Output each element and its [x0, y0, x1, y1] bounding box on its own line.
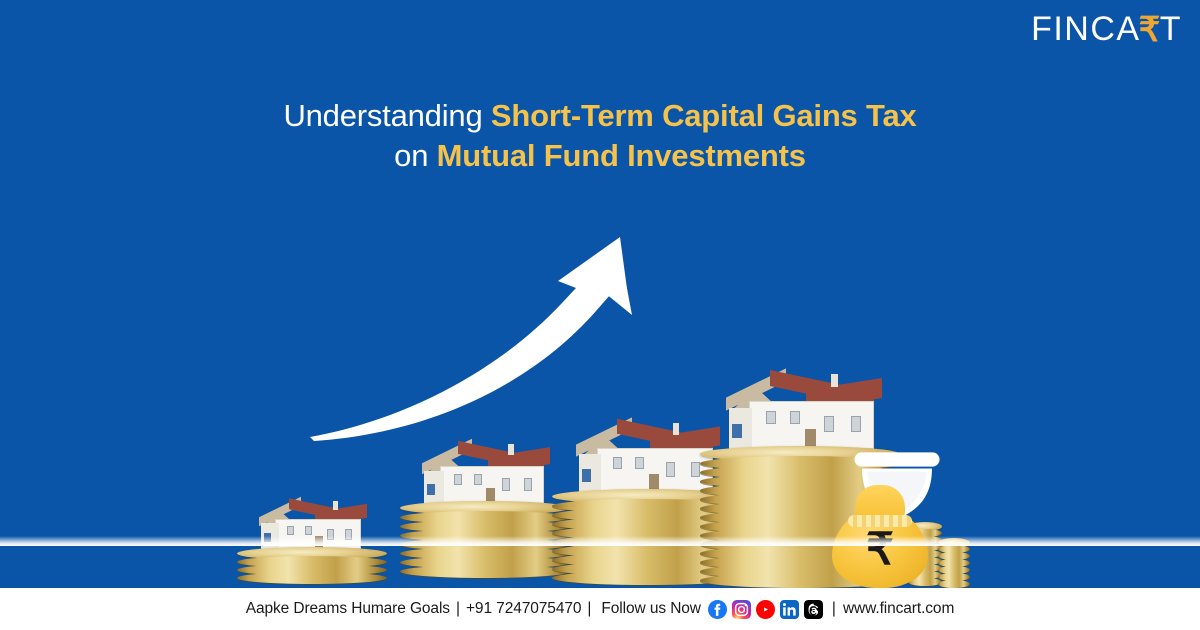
ground-shadow	[0, 536, 1200, 546]
footer-bar: Aapke Dreams Humare Goals | +91 72470754…	[0, 588, 1200, 630]
coin	[938, 580, 970, 588]
illustration-scene: ₹	[0, 0, 1200, 588]
social-icons-group	[708, 600, 823, 619]
facebook-icon[interactable]	[708, 600, 727, 619]
house-on-coin-stack-2	[400, 437, 570, 588]
money-bag-icon: ₹	[832, 481, 928, 588]
footer-follow-label: Follow us Now	[601, 600, 700, 618]
footer-separator-3: |	[832, 600, 836, 618]
coin-stack-2	[400, 437, 570, 521]
coin-stack-1	[237, 495, 387, 533]
upward-growth-arrow-icon	[300, 185, 660, 445]
coin	[400, 565, 570, 578]
footer-website[interactable]: www.fincart.com	[843, 600, 954, 618]
threads-icon[interactable]	[804, 600, 823, 619]
footer-phone[interactable]: +91 7247075470	[466, 600, 581, 618]
coin	[237, 572, 387, 584]
banner-canvas: FINCA₹T Understanding Short-Term Capital…	[0, 0, 1200, 630]
linkedin-icon[interactable]	[780, 600, 799, 619]
youtube-icon[interactable]	[756, 600, 775, 619]
instagram-icon[interactable]	[732, 600, 751, 619]
money-bag-rupee-symbol: ₹	[832, 528, 928, 572]
footer-separator-2: |	[587, 600, 591, 618]
footer-separator-1: |	[456, 600, 460, 618]
footer-tagline: Aapke Dreams Humare Goals	[246, 600, 450, 618]
